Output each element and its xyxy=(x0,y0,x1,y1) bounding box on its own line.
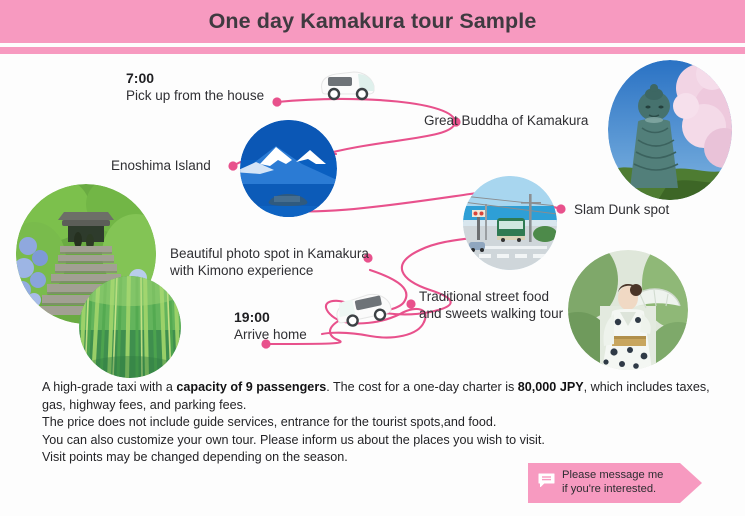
stop-name-enoshima: Enoshima Island xyxy=(111,157,211,174)
stop-label-enoshima: Enoshima Island xyxy=(111,157,211,174)
note-line-2: gas, highway fees, and parking fees. xyxy=(42,397,732,415)
stop-name-street-food-line2: and sweets walking tour xyxy=(419,305,563,322)
stop-time-arrive-home: 19:00 xyxy=(234,309,307,326)
note-1a: A high-grade taxi with a xyxy=(42,380,176,394)
route-dot-street-food xyxy=(406,299,415,308)
stop-name-great-buddha: Great Buddha of Kamakura xyxy=(424,112,588,129)
stop-label-great-buddha: Great Buddha of Kamakura xyxy=(424,112,588,129)
photo-enoshima xyxy=(240,120,337,217)
route-map: 7:00 Pick up from the house Great Buddha… xyxy=(0,54,745,370)
photo-slam-dunk xyxy=(463,176,557,270)
stop-name-kimono-line2: with Kimono experience xyxy=(170,262,369,279)
note-capacity: capacity of 9 passengers xyxy=(176,380,326,394)
note-1e: , which includes taxes, xyxy=(584,380,710,394)
message-icon xyxy=(538,473,555,493)
photo-bamboo-grove xyxy=(79,276,181,378)
stop-name-slam-dunk: Slam Dunk spot xyxy=(574,201,669,218)
stop-label-street-food: Traditional street food and sweets walki… xyxy=(419,288,563,322)
note-line-3: The price does not include guide service… xyxy=(42,414,732,432)
message-cta-line1: Please message me xyxy=(562,469,663,483)
tour-notes: A high-grade taxi with a capacity of 9 p… xyxy=(42,379,732,467)
note-line-1: A high-grade taxi with a capacity of 9 p… xyxy=(42,379,732,397)
photo-kimono xyxy=(568,250,688,370)
photo-great-buddha xyxy=(608,60,732,200)
cta-arrow-tip xyxy=(680,463,702,503)
message-cta-banner[interactable]: Please message me if you're interested. xyxy=(528,463,680,503)
message-cta-text: Please message me if you're interested. xyxy=(562,469,663,496)
van-icon-pickup xyxy=(314,68,380,107)
stop-label-slam-dunk: Slam Dunk spot xyxy=(574,201,669,218)
stop-name-arrive-home: Arrive home xyxy=(234,326,307,343)
stop-label-arrive-home: 19:00 Arrive home xyxy=(234,309,307,343)
note-price: 80,000 JPY xyxy=(518,380,584,394)
page-title: One day Kamakura tour Sample xyxy=(0,0,745,43)
note-line-4: You can also customize your own tour. Pl… xyxy=(42,432,732,450)
tour-sample-poster: One day Kamakura tour Sample xyxy=(0,0,745,516)
note-1c: . The cost for a one-day charter is xyxy=(326,380,518,394)
stop-label-kimono: Beautiful photo spot in Kamakura with Ki… xyxy=(170,245,369,279)
stop-name-pickup: Pick up from the house xyxy=(126,87,264,104)
stop-label-pickup: 7:00 Pick up from the house xyxy=(126,70,264,104)
message-cta-line2: if you're interested. xyxy=(562,483,663,497)
stop-time-pickup: 7:00 xyxy=(126,70,264,87)
route-dot-pickup xyxy=(272,97,281,106)
stop-name-kimono-line1: Beautiful photo spot in Kamakura xyxy=(170,245,369,262)
stop-name-street-food-line1: Traditional street food xyxy=(419,288,563,305)
header-accent-stripe xyxy=(0,47,745,54)
